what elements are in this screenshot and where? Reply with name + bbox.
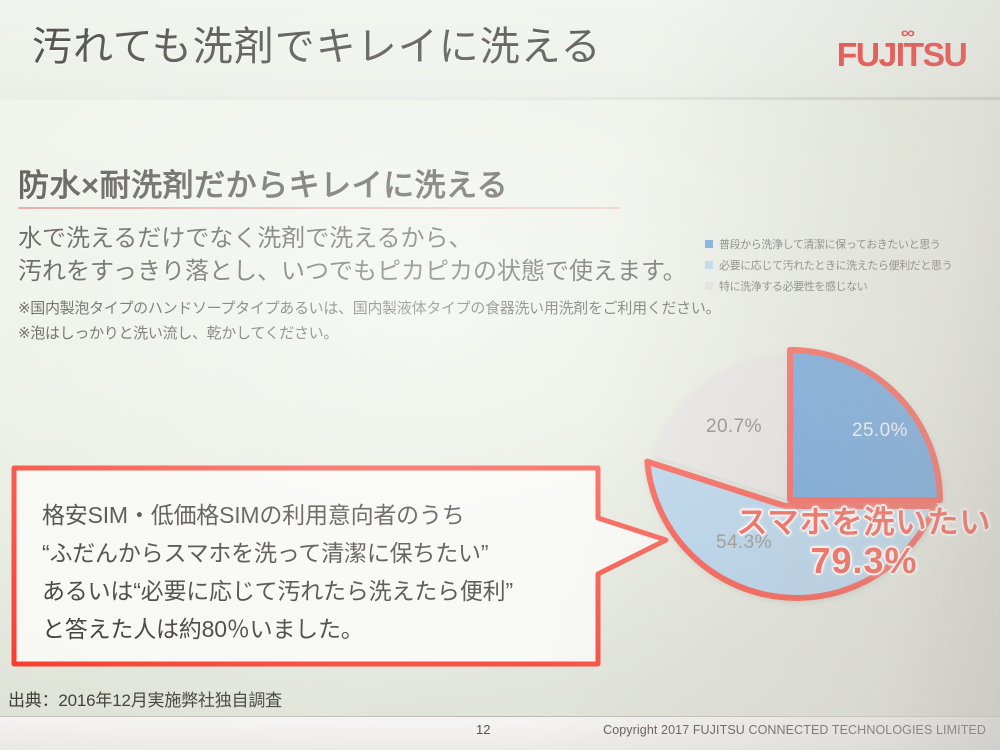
slide-header: 汚れても洗剤でキレイに洗える ∞ FUJITSU	[0, 0, 1000, 100]
legend-swatch-0	[705, 240, 713, 248]
footnote-1: ※国内製泡タイプのハンドソープタイプあるいは、国内製液体タイプの食器洗い用洗剤を…	[18, 296, 898, 321]
legend-item-0: 普段から洗浄して清潔に保っておきたいと思う	[705, 236, 995, 252]
lead-line-2: 汚れをすっきり落とし、いつでもピカピカの状態で使えます。	[18, 255, 818, 288]
legend-swatch-1	[705, 261, 713, 269]
legend-label-2: 特に洗浄する必要性を感じない	[719, 278, 867, 294]
legend-item-2: 特に洗浄する必要性を感じない	[705, 278, 995, 294]
lead-paragraph: 水で洗えるだけでなく洗剤で洗えるから、 汚れをすっきり落とし、いつでもピカピカの…	[18, 222, 818, 288]
section-heading-underline	[18, 207, 620, 209]
lead-line-1: 水で洗えるだけでなく洗剤で洗えるから、	[18, 222, 818, 255]
legend-swatch-2	[705, 282, 713, 290]
pie-value-light-blue: 54.3%	[716, 532, 772, 553]
pie-value-gray: 20.7%	[706, 416, 762, 437]
fujitsu-logo: ∞ FUJITSU	[838, 28, 978, 78]
footer-divider	[0, 716, 1000, 717]
callout-line-2: “ふだんからスマホを洗って清潔に保ちたい”	[42, 534, 582, 572]
callout-line-3: あるいは“必要に応じて汚れたら洗えたら便利”	[42, 572, 582, 610]
legend-label-0: 普段から洗浄して清潔に保っておきたいと思う	[719, 236, 940, 252]
page-number: 12	[476, 722, 490, 737]
pie-value-dark-blue: 25.0%	[852, 420, 908, 441]
slide-canvas: 汚れても洗剤でキレイに洗える ∞ FUJITSU 防水×耐洗剤だからキレイに洗え…	[0, 0, 1000, 750]
legend-label-1: 必要に応じて汚れたときに洗えたら便利だと思う	[719, 257, 952, 273]
callout-text: 格安SIM・低価格SIMの利用意向者のうち “ふだんからスマホを洗って清潔に保ち…	[42, 496, 582, 648]
chart-legend: 普段から洗浄して清潔に保っておきたいと思う 必要に応じて汚れたときに洗えたら便利…	[705, 236, 995, 299]
legend-item-1: 必要に応じて汚れたときに洗えたら便利だと思う	[705, 257, 995, 273]
copyright-notice: Copyright 2017 FUJITSU CONNECTED TECHNOL…	[603, 723, 986, 737]
page-title: 汚れても洗剤でキレイに洗える	[32, 20, 602, 74]
callout-line-1: 格安SIM・低価格SIMの利用意向者のうち	[42, 496, 582, 534]
source-note: 出典：2016年12月実施弊社独自調査	[8, 686, 282, 711]
callout-box: 格安SIM・低価格SIMの利用意向者のうち “ふだんからスマホを洗って清潔に保ち…	[6, 458, 706, 680]
logo-wordmark: FUJITSU	[837, 36, 967, 74]
callout-line-4: と答えた人は約80％いました。	[42, 610, 582, 648]
section-heading: 防水×耐洗剤だからキレイに洗える	[18, 160, 508, 205]
